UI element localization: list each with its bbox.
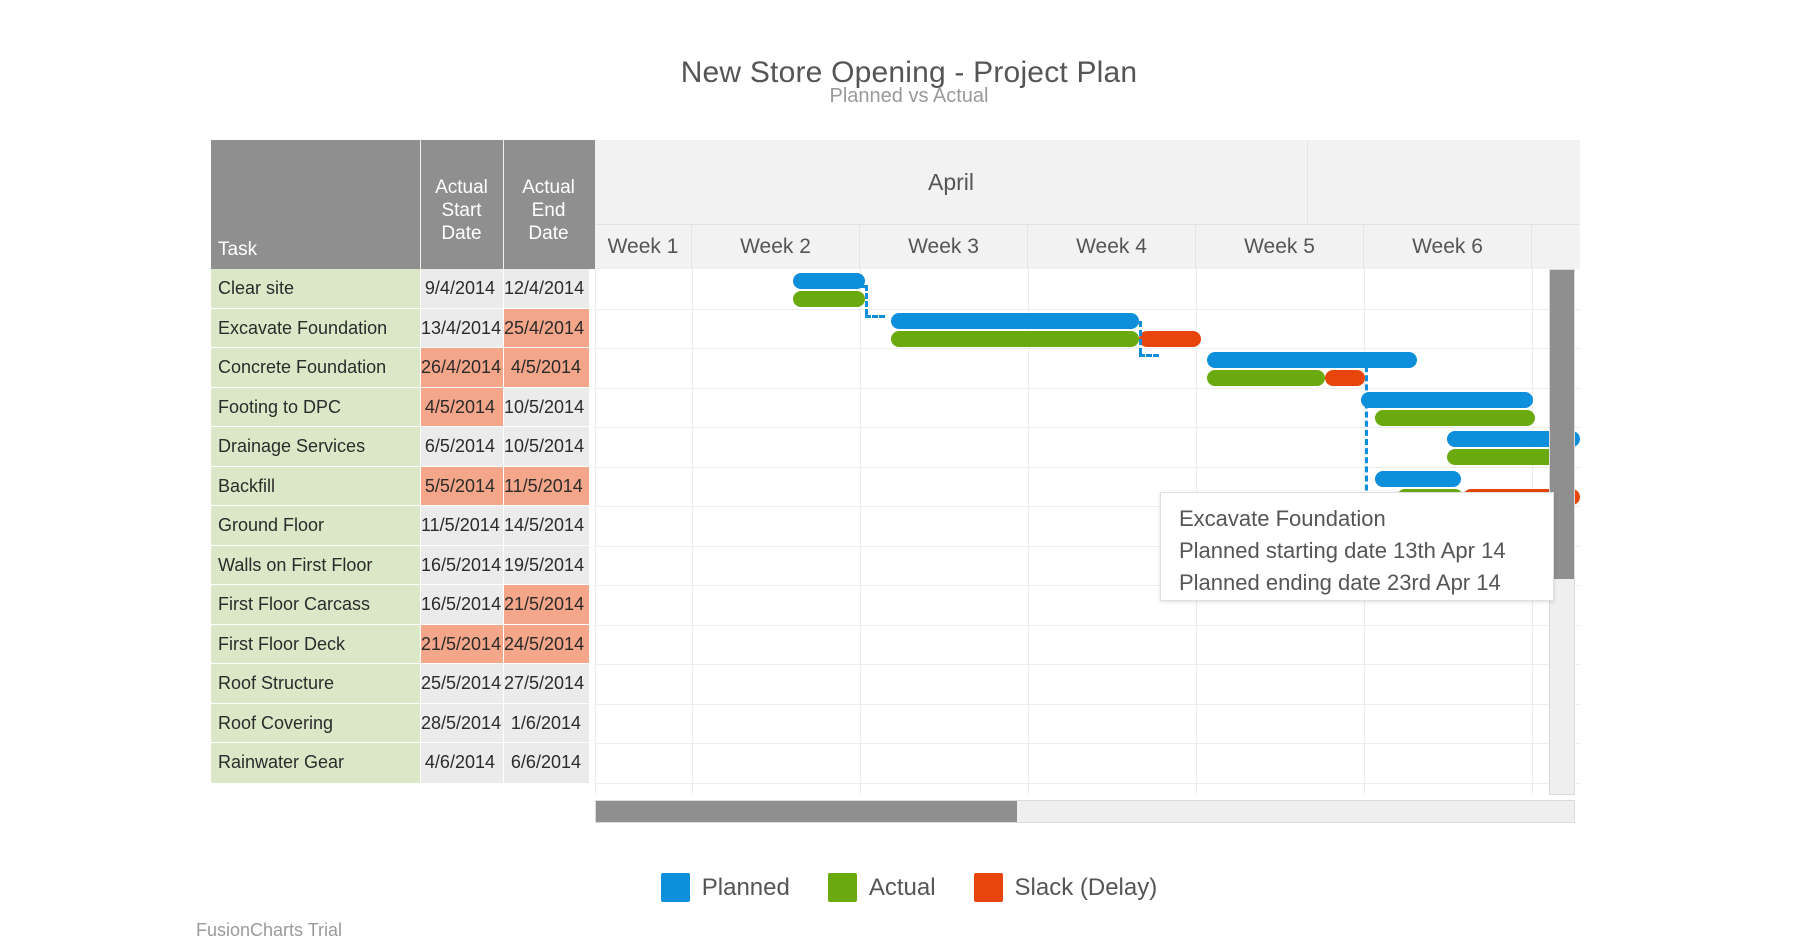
gantt-bar-planned[interactable] xyxy=(1361,392,1533,408)
cell-actual-end-date: 19/5/2014 xyxy=(504,546,589,586)
horizontal-scrollbar-thumb[interactable] xyxy=(596,801,1017,822)
grid-line-horizontal xyxy=(595,625,1580,626)
cell-task: First Floor Carcass xyxy=(211,585,420,625)
row-divider xyxy=(211,466,595,467)
table-row[interactable]: Roof Covering28/5/20141/6/2014 xyxy=(211,704,595,744)
timeline-week-cell: Week 2 xyxy=(692,225,860,269)
legend-swatch-icon xyxy=(661,873,690,902)
grid-line-horizontal xyxy=(595,743,1580,744)
legend-swatch-icon xyxy=(974,873,1003,902)
column-divider xyxy=(503,269,504,783)
table-row[interactable]: Ground Floor11/5/201414/5/2014 xyxy=(211,506,595,546)
grid-line-horizontal xyxy=(595,467,1580,468)
table-row[interactable]: Walls on First Floor16/5/201419/5/2014 xyxy=(211,546,595,586)
horizontal-scrollbar[interactable] xyxy=(595,800,1575,823)
cell-task: First Floor Deck xyxy=(211,625,420,665)
table-row[interactable]: Concrete Foundation26/4/20144/5/2014 xyxy=(211,348,595,388)
dependency-connector xyxy=(865,285,868,315)
grid-line-horizontal xyxy=(595,388,1580,389)
cell-task: Roof Covering xyxy=(211,704,420,744)
table-row[interactable]: Clear site9/4/201412/4/2014 xyxy=(211,269,595,309)
table-row[interactable]: First Floor Deck21/5/201424/5/2014 xyxy=(211,625,595,665)
cell-actual-start-date: 9/4/2014 xyxy=(421,269,503,309)
row-divider xyxy=(211,308,595,309)
cell-task: Footing to DPC xyxy=(211,388,420,428)
cell-actual-start-date: 16/5/2014 xyxy=(421,585,503,625)
gantt-bar-slack[interactable] xyxy=(1325,370,1365,386)
grid-line-horizontal xyxy=(595,664,1580,665)
cell-task: Concrete Foundation xyxy=(211,348,420,388)
cell-actual-end-date: 4/5/2014 xyxy=(504,348,589,388)
gantt-bar-planned[interactable] xyxy=(1375,471,1461,487)
cell-actual-start-date: 4/6/2014 xyxy=(421,743,503,783)
gantt-bar-slack[interactable] xyxy=(1139,331,1201,347)
legend-swatch-icon xyxy=(828,873,857,902)
legend-label: Actual xyxy=(869,874,936,902)
column-header-task: Task xyxy=(218,238,418,261)
cell-actual-end-date: 25/4/2014 xyxy=(504,309,589,349)
cell-task: Walls on First Floor xyxy=(211,546,420,586)
cell-task: Backfill xyxy=(211,467,420,507)
dependency-connector xyxy=(1121,321,1141,324)
legend-item[interactable]: Actual xyxy=(828,873,936,902)
table-header: Task Actual Start Date Actual End Date xyxy=(211,140,595,269)
cell-actual-start-date: 28/5/2014 xyxy=(421,704,503,744)
watermark: FusionCharts Trial xyxy=(196,920,342,941)
cell-actual-start-date: 6/5/2014 xyxy=(421,427,503,467)
grid-line-horizontal xyxy=(595,309,1580,310)
cell-actual-end-date: 6/6/2014 xyxy=(504,743,589,783)
table-row[interactable]: Backfill5/5/201411/5/2014 xyxy=(211,467,595,507)
column-header-line: Actual xyxy=(508,176,589,199)
timeline-month-cell: April xyxy=(595,140,1308,224)
column-divider xyxy=(420,269,421,783)
gantt-bar-actual[interactable] xyxy=(1375,410,1535,426)
table-row[interactable]: Excavate Foundation13/4/201425/4/2014 xyxy=(211,309,595,349)
cell-task: Clear site xyxy=(211,269,420,309)
row-divider xyxy=(211,584,595,585)
table-row[interactable]: Drainage Services6/5/201410/5/2014 xyxy=(211,427,595,467)
timeline-week-header: Week 1Week 2Week 3Week 4Week 5Week 6W xyxy=(595,224,1580,269)
table-row[interactable]: Footing to DPC4/5/201410/5/2014 xyxy=(211,388,595,428)
cell-actual-end-date: 1/6/2014 xyxy=(504,704,589,744)
table-body: Clear site9/4/201412/4/2014Excavate Foun… xyxy=(211,269,595,795)
row-divider xyxy=(211,426,595,427)
gantt-bar-actual[interactable] xyxy=(1207,370,1325,386)
cell-actual-end-date: 12/4/2014 xyxy=(504,269,589,309)
cell-actual-end-date: 10/5/2014 xyxy=(504,427,589,467)
table-row[interactable]: Rainwater Gear4/6/20146/6/2014 xyxy=(211,743,595,783)
gantt-bar-actual[interactable] xyxy=(793,291,865,307)
legend-label: Planned xyxy=(702,874,790,902)
task-table: Task Actual Start Date Actual End Date C… xyxy=(211,140,595,795)
header-divider xyxy=(503,140,504,269)
timeline-month-header: April xyxy=(595,140,1580,224)
timeline-week-cell: Week 4 xyxy=(1028,225,1196,269)
cell-actual-start-date: 25/5/2014 xyxy=(421,664,503,704)
cell-actual-start-date: 21/5/2014 xyxy=(421,625,503,665)
timeline-week-cell: Week 1 xyxy=(595,225,692,269)
cell-actual-start-date: 16/5/2014 xyxy=(421,546,503,586)
tooltip-task-name: Excavate Foundation xyxy=(1179,503,1553,535)
gantt-bar-planned[interactable] xyxy=(891,313,1139,329)
dependency-connector xyxy=(847,285,867,288)
timeline-week-cell: Week 3 xyxy=(860,225,1028,269)
cell-actual-start-date: 26/4/2014 xyxy=(421,348,503,388)
timeline-week-cell: Week 6 xyxy=(1364,225,1532,269)
timeline-week-cell: W xyxy=(1532,225,1580,269)
timeline-week-cell: Week 5 xyxy=(1196,225,1364,269)
legend-item[interactable]: Planned xyxy=(661,873,790,902)
cell-actual-end-date: 11/5/2014 xyxy=(504,467,589,507)
column-header-actual-start-date: Actual Start Date xyxy=(421,176,502,245)
bar-tooltip: Excavate Foundation Planned starting dat… xyxy=(1160,492,1554,601)
gantt-bar-actual[interactable] xyxy=(1447,449,1557,465)
gantt-bar-planned[interactable] xyxy=(1207,352,1417,368)
column-header-line: Start xyxy=(421,199,502,222)
cell-actual-end-date: 27/5/2014 xyxy=(504,664,589,704)
grid-line-horizontal xyxy=(595,783,1580,784)
cell-actual-end-date: 24/5/2014 xyxy=(504,625,589,665)
dependency-connector xyxy=(1139,354,1159,357)
column-header-line: Date xyxy=(508,222,589,245)
row-divider xyxy=(211,742,595,743)
legend-item[interactable]: Slack (Delay) xyxy=(974,873,1158,902)
grid-line-horizontal xyxy=(595,427,1580,428)
cell-actual-start-date: 11/5/2014 xyxy=(421,506,503,546)
cell-task: Ground Floor xyxy=(211,506,420,546)
legend-label: Slack (Delay) xyxy=(1015,874,1158,902)
column-header-line: Actual xyxy=(421,176,502,199)
dependency-connector xyxy=(1347,357,1367,360)
table-row[interactable]: Roof Structure25/5/201427/5/2014 xyxy=(211,664,595,704)
cell-actual-start-date: 13/4/2014 xyxy=(421,309,503,349)
gantt-bar-actual[interactable] xyxy=(891,331,1139,347)
cell-task: Drainage Services xyxy=(211,427,420,467)
row-divider xyxy=(211,663,595,664)
dependency-connector xyxy=(1139,321,1142,354)
grid-line-horizontal xyxy=(595,704,1580,705)
header-divider xyxy=(420,140,421,269)
page-subtitle: Planned vs Actual xyxy=(0,85,1818,108)
table-row[interactable]: First Floor Carcass16/5/201421/5/2014 xyxy=(211,585,595,625)
cell-actual-end-date: 21/5/2014 xyxy=(504,585,589,625)
row-divider xyxy=(211,624,595,625)
row-divider xyxy=(211,545,595,546)
tooltip-planned-end: Planned ending date 23rd Apr 14 xyxy=(1179,567,1553,599)
column-header-line: Date xyxy=(421,222,502,245)
column-header-actual-end-date: Actual End Date xyxy=(508,176,589,245)
timeline-panel: April Week 1Week 2Week 3Week 4Week 5Week… xyxy=(595,140,1580,795)
cell-actual-start-date: 5/5/2014 xyxy=(421,467,503,507)
cell-actual-end-date: 14/5/2014 xyxy=(504,506,589,546)
row-divider xyxy=(211,505,595,506)
cell-task: Rainwater Gear xyxy=(211,743,420,783)
cell-task: Roof Structure xyxy=(211,664,420,704)
cell-actual-end-date: 10/5/2014 xyxy=(504,388,589,428)
dependency-connector xyxy=(865,315,885,318)
cell-task: Excavate Foundation xyxy=(211,309,420,349)
row-divider xyxy=(211,347,595,348)
cell-actual-start-date: 4/5/2014 xyxy=(421,388,503,428)
chart-legend: PlannedActualSlack (Delay) xyxy=(0,873,1818,902)
tooltip-planned-start: Planned starting date 13th Apr 14 xyxy=(1179,535,1553,567)
grid-line-horizontal xyxy=(595,348,1580,349)
row-divider xyxy=(211,703,595,704)
column-header-line: End xyxy=(508,199,589,222)
row-divider xyxy=(211,387,595,388)
gantt-chart: Task Actual Start Date Actual End Date C… xyxy=(211,140,1580,816)
